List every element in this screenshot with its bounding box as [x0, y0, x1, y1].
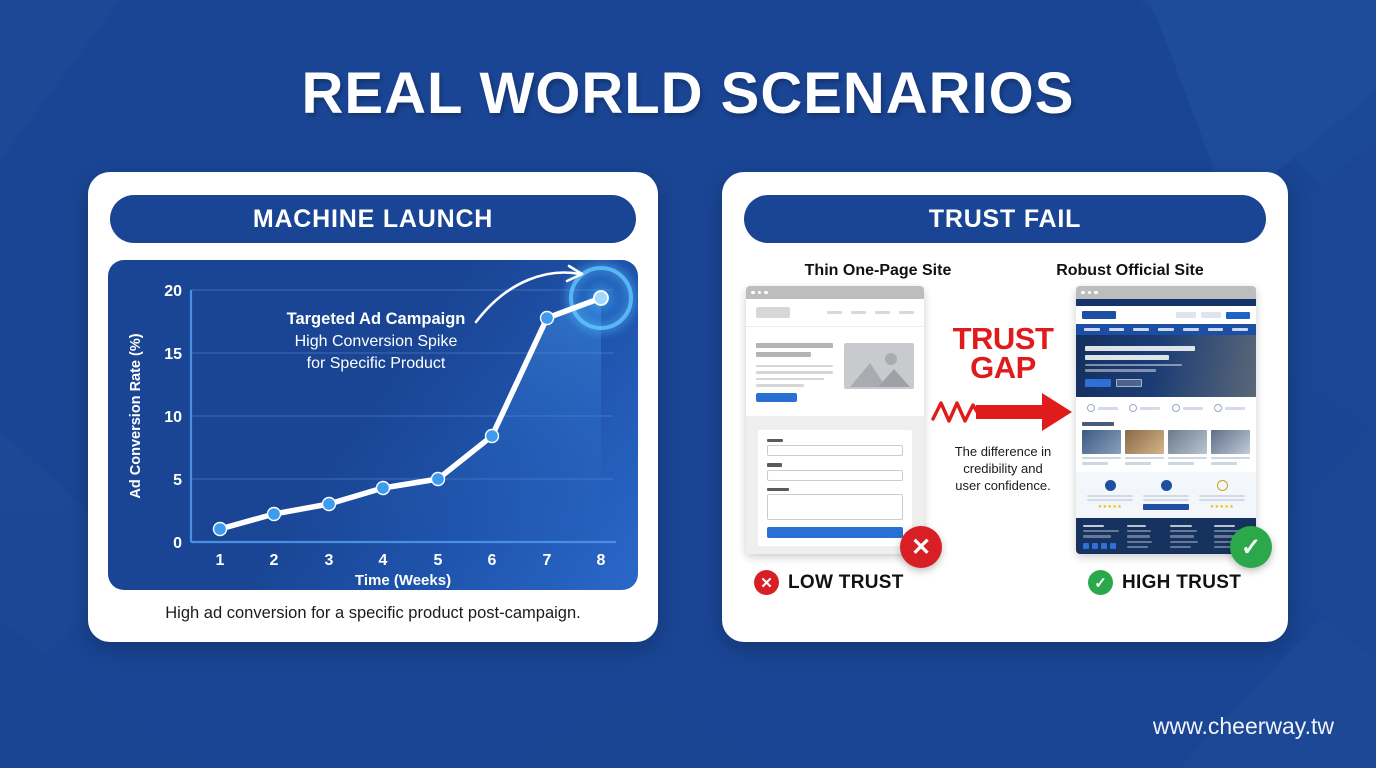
footer-link-placeholder[interactable]: [1170, 530, 1197, 532]
trust-gap-title-line-1: TRUST: [930, 324, 1076, 353]
label-thin-one-page-site: Thin One-Page Site: [744, 262, 1012, 280]
trust-gap-desc-line-1: The difference in: [930, 443, 1076, 460]
robust-site-header-right: [1176, 312, 1250, 319]
trust-gap-title: TRUST GAP: [930, 324, 1076, 383]
service-text-placeholder: [1211, 462, 1237, 465]
service-text-placeholder: [1125, 462, 1151, 465]
footer-logo-placeholder: [1083, 525, 1104, 527]
nav-item-placeholder[interactable]: [1208, 328, 1224, 331]
placeholder-image-icon: [844, 343, 914, 389]
nav-item-placeholder[interactable]: [1158, 328, 1174, 331]
trust-gap-block: TRUST GAP The difference in credibility …: [930, 324, 1076, 494]
header-phone-item: [1201, 312, 1221, 318]
section-title-placeholder: [1082, 422, 1114, 426]
service-image: [1125, 430, 1164, 454]
nav-link-placeholder: [899, 311, 914, 314]
browser-chrome-bar: [746, 286, 924, 299]
service-text-placeholder: [1168, 462, 1194, 465]
service-title-placeholder: [1125, 457, 1164, 460]
service-card[interactable]: [1211, 430, 1250, 465]
social-icon[interactable]: [1092, 543, 1098, 549]
card-header-trust-fail: TRUST FAIL: [744, 195, 1266, 243]
trust-gap-description: The difference in credibility and user c…: [930, 443, 1076, 494]
footer-link-placeholder[interactable]: [1170, 541, 1198, 543]
ad-conversion-line-chart: 20 15 10 5 0 Ad Conversion Rate (%) 1 2 …: [108, 260, 638, 590]
form-input-email[interactable]: [767, 470, 903, 481]
service-title-placeholder: [1168, 457, 1207, 460]
footer-link-placeholder[interactable]: [1127, 541, 1153, 543]
footer-heading-placeholder: [1170, 525, 1192, 527]
svg-text:5: 5: [434, 552, 443, 569]
footer-social-icons: [1083, 543, 1119, 549]
svg-text:6: 6: [488, 552, 497, 569]
robust-site-logo: [1082, 311, 1116, 319]
service-image: [1168, 430, 1207, 454]
badge-icon: [1161, 480, 1172, 491]
page-title: REAL WORLD SCENARIOS: [0, 60, 1376, 127]
footer-heading-placeholder: [1214, 525, 1235, 527]
feature-item: [1129, 404, 1160, 412]
robust-site-trust-section: ★★★★★ ★★★★★: [1076, 472, 1256, 518]
robust-site-footer: [1076, 518, 1256, 554]
rating-stars-icon: ★★★★★: [1199, 504, 1245, 510]
service-card-row: [1082, 430, 1250, 465]
service-card[interactable]: [1125, 430, 1164, 465]
social-icon[interactable]: [1110, 543, 1116, 549]
chart-y-axis-title: Ad Conversion Rate (%): [128, 333, 144, 498]
nav-item-placeholder[interactable]: [1183, 328, 1199, 331]
hero-buttons: [1085, 379, 1247, 387]
thin-site-hero-copy: [756, 343, 833, 402]
footer-link-placeholder[interactable]: [1170, 535, 1194, 537]
certification-seal-icon: [1217, 480, 1228, 491]
svg-text:5: 5: [173, 472, 182, 489]
form-label-message: [767, 488, 789, 492]
footer-heading-placeholder: [1127, 525, 1147, 527]
browser-mockup-robust-site: ★★★★★ ★★★★★: [1076, 286, 1256, 554]
cross-icon: ✕: [754, 570, 779, 595]
robust-site-hero: [1076, 335, 1256, 397]
headline-placeholder: [756, 343, 833, 348]
feature-item: [1214, 404, 1245, 412]
window-dot-icon: [758, 291, 762, 295]
trust-gap-desc-line-3: user confidence.: [930, 477, 1076, 494]
service-card[interactable]: [1082, 430, 1121, 465]
footer-website-url: www.cheerway.tw: [1153, 713, 1334, 740]
svg-text:7: 7: [543, 552, 552, 569]
trust-column: [1143, 480, 1189, 510]
trust-column: ★★★★★: [1087, 480, 1133, 510]
thin-site-contact-form: [758, 430, 912, 547]
rating-stars-icon: ★★★★★: [1087, 504, 1133, 510]
svg-text:10: 10: [164, 409, 182, 426]
nav-item-placeholder[interactable]: [1084, 328, 1100, 331]
thin-site-navbar: [746, 299, 924, 327]
footer-brand-column: [1083, 525, 1119, 554]
trust-cta-button[interactable]: [1143, 504, 1189, 510]
feature-item: [1172, 404, 1203, 412]
svg-text:20: 20: [164, 283, 182, 300]
window-dot-icon: [1094, 291, 1098, 295]
hero-secondary-button[interactable]: [1116, 379, 1142, 387]
window-dot-icon: [1081, 291, 1085, 295]
window-dot-icon: [751, 291, 755, 295]
social-icon[interactable]: [1083, 543, 1089, 549]
robust-site-navbar: [1076, 324, 1256, 335]
footer-link-placeholder[interactable]: [1127, 535, 1150, 537]
trust-gap-title-line-2: GAP: [930, 353, 1076, 382]
svg-text:1: 1: [216, 552, 225, 569]
robust-site-topbar: [1076, 299, 1256, 306]
browser-mockup-thin-site: [746, 286, 924, 554]
low-trust-label: LOW TRUST: [788, 572, 904, 594]
svg-text:8: 8: [597, 552, 606, 569]
form-label-name: [767, 439, 783, 443]
label-robust-official-site: Robust Official Site: [994, 262, 1266, 280]
robust-site-services-section: [1076, 419, 1256, 472]
high-trust-label: HIGH TRUST: [1122, 572, 1241, 594]
svg-text:15: 15: [164, 346, 182, 363]
thin-site-nav-links: [827, 311, 914, 314]
thin-site-hero: [746, 327, 924, 416]
trust-text-placeholder: [1087, 495, 1133, 497]
svg-text:0: 0: [173, 535, 182, 552]
hero-text-placeholder: [1085, 364, 1182, 366]
text-line-placeholder: [756, 371, 833, 374]
footer-link-placeholder[interactable]: [1127, 530, 1152, 532]
hero-headline-placeholder: [1085, 355, 1169, 360]
feature-label-placeholder: [1225, 407, 1245, 410]
footer-text-placeholder: [1083, 535, 1111, 537]
thin-site-contact-section: [746, 416, 924, 554]
feature-icon: [1129, 404, 1137, 412]
text-line-placeholder: [756, 384, 804, 387]
form-submit-button[interactable]: [767, 527, 903, 538]
svg-text:2: 2: [270, 552, 279, 569]
trust-gap-arrow-icon: [930, 389, 1076, 433]
form-input-name[interactable]: [767, 445, 903, 456]
nav-link-placeholder: [827, 311, 842, 314]
chart-x-tick-labels: 1 2 3 4 5 6 7 8: [216, 552, 606, 569]
service-card[interactable]: [1168, 430, 1207, 465]
robust-site-header: [1076, 306, 1256, 324]
subheadline-placeholder: [756, 352, 811, 357]
hero-text-placeholder: [1085, 369, 1156, 371]
chart-annotation: Targeted Ad Campaign High Conversion Spi…: [287, 310, 466, 372]
annotation-line-2: High Conversion Spike: [295, 333, 458, 350]
feature-icon: [1087, 404, 1095, 412]
footer-links-column: [1127, 525, 1163, 554]
feature-icon: [1214, 404, 1222, 412]
feature-item: [1087, 404, 1118, 412]
text-line-placeholder: [756, 365, 833, 368]
feature-label-placeholder: [1140, 407, 1160, 410]
social-icon[interactable]: [1101, 543, 1107, 549]
annotation-line-1: Targeted Ad Campaign: [287, 310, 466, 328]
service-title-placeholder: [1082, 457, 1121, 460]
window-dot-icon: [1088, 291, 1092, 295]
service-image: [1211, 430, 1250, 454]
trust-text-placeholder: [1199, 495, 1245, 497]
feature-icon: [1172, 404, 1180, 412]
text-line-placeholder: [756, 378, 824, 381]
check-icon-large: ✓: [1230, 526, 1272, 568]
hero-primary-button[interactable]: [1085, 379, 1111, 387]
trust-text-placeholder: [1143, 495, 1189, 497]
badge-icon: [1105, 480, 1116, 491]
check-icon: ✓: [1088, 570, 1113, 595]
nav-item-placeholder[interactable]: [1133, 328, 1149, 331]
header-cta-button[interactable]: [1226, 312, 1250, 319]
form-label-email: [767, 463, 782, 467]
header-contact-item: [1176, 312, 1196, 318]
thin-site-cta-button[interactable]: [756, 393, 797, 402]
service-image: [1082, 430, 1121, 454]
trust-gap-desc-line-2: credibility and: [930, 460, 1076, 477]
nav-item-placeholder[interactable]: [1232, 328, 1248, 331]
trust-column: ★★★★★: [1199, 480, 1245, 510]
browser-chrome-bar: [1076, 286, 1256, 299]
trust-text-placeholder: [1087, 499, 1133, 501]
feature-label-placeholder: [1183, 407, 1203, 410]
chart-x-axis-title: Time (Weeks): [355, 572, 451, 589]
nav-item-placeholder[interactable]: [1109, 328, 1125, 331]
svg-text:3: 3: [325, 552, 334, 569]
status-badge-low-trust: ✕ LOW TRUST: [754, 570, 904, 595]
trust-text-placeholder: [1143, 499, 1189, 501]
form-input-message[interactable]: [767, 494, 903, 520]
robust-site-feature-strip: [1076, 397, 1256, 419]
footer-link-placeholder[interactable]: [1170, 546, 1191, 548]
trust-text-placeholder: [1199, 499, 1245, 501]
chart-caption: High ad conversion for a specific produc…: [88, 604, 658, 623]
service-title-placeholder: [1211, 457, 1250, 460]
footer-text-placeholder: [1083, 530, 1119, 532]
feature-label-placeholder: [1098, 407, 1118, 410]
footer-link-placeholder[interactable]: [1127, 546, 1148, 548]
annotation-line-3: for Specific Product: [307, 355, 446, 372]
svg-text:4: 4: [379, 552, 388, 569]
footer-links-column: [1170, 525, 1206, 554]
cross-icon-large: ✕: [900, 526, 942, 568]
chart-y-tick-labels: 20 15 10 5 0: [164, 283, 182, 552]
card-header-machine-launch: MACHINE LAUNCH: [110, 195, 636, 243]
card-trust-fail: TRUST FAIL Thin One-Page Site Robust Off…: [722, 172, 1288, 642]
window-dot-icon: [764, 291, 768, 295]
service-text-placeholder: [1082, 462, 1108, 465]
nav-link-placeholder: [851, 311, 866, 314]
status-badge-high-trust: ✓ HIGH TRUST: [1088, 570, 1241, 595]
card-machine-launch: MACHINE LAUNCH: [88, 172, 658, 642]
thin-site-logo: [756, 307, 790, 318]
hero-headline-placeholder: [1085, 346, 1195, 351]
nav-link-placeholder: [875, 311, 890, 314]
